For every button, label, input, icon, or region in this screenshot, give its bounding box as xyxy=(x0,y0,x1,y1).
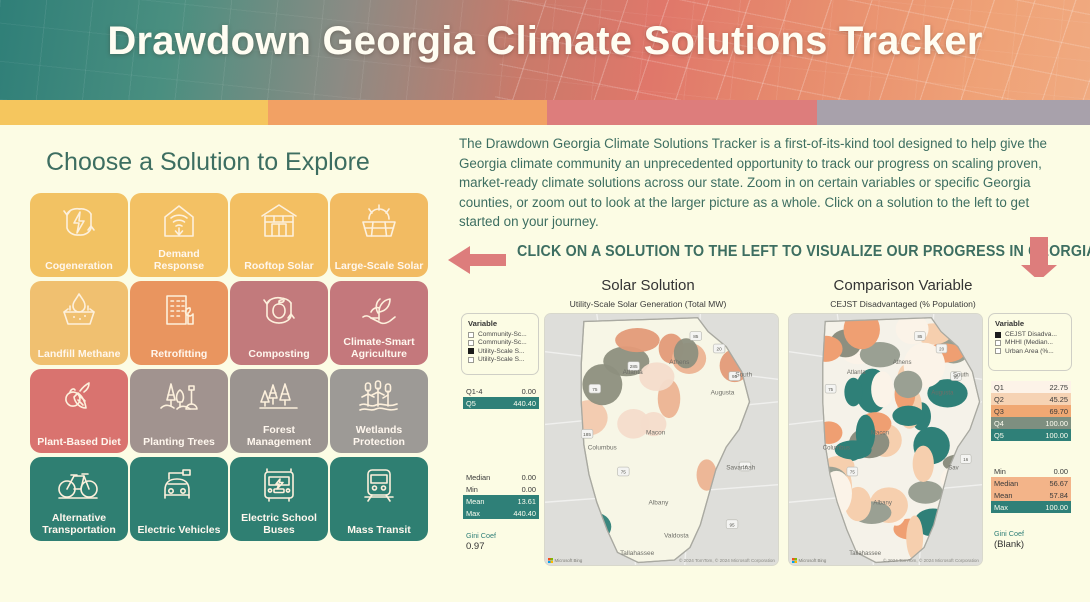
stat-row[interactable]: Median0.00 xyxy=(463,471,539,483)
stat-label: Max xyxy=(466,509,480,518)
stat-row[interactable]: Min0.00 xyxy=(463,483,539,495)
stat-row[interactable]: Q245.25 xyxy=(991,393,1071,405)
solution-label: Climate-Smart Agriculture xyxy=(332,337,426,360)
stat-row[interactable]: Q122.75 xyxy=(991,381,1071,393)
svg-text:Macon: Macon xyxy=(646,430,666,437)
strip-band-1 xyxy=(0,100,268,125)
stat-value: 0.00 xyxy=(522,473,536,482)
solution-label: Retrofitting xyxy=(132,349,226,361)
solution-label: Electric Vehicles xyxy=(132,525,226,537)
svg-text:Augusta: Augusta xyxy=(711,389,735,396)
checkbox-icon[interactable] xyxy=(468,348,474,354)
stat-value: 440.40 xyxy=(513,399,536,408)
comparison-variable-title: Comparison Variable xyxy=(788,277,1018,294)
svg-text:Athens: Athens xyxy=(893,359,912,366)
plant-diet-icon xyxy=(58,378,100,418)
solution-button-mass-transit[interactable]: Mass Transit xyxy=(330,457,428,541)
solution-button-demand-response[interactable]: Demand Response xyxy=(130,193,228,277)
svg-text:Albany: Albany xyxy=(649,500,670,507)
solution-label: Large-Scale Solar xyxy=(332,261,426,273)
solution-label: Composting xyxy=(232,349,326,361)
stat-label: Q3 xyxy=(994,407,1004,416)
tracker-dashboard[interactable]: Solar Solution Utility-Scale Solar Gener… xyxy=(458,277,1075,574)
landfill-methane-icon xyxy=(58,290,100,330)
ev-car-icon xyxy=(157,466,201,506)
svg-text:16: 16 xyxy=(963,457,968,462)
svg-text:85: 85 xyxy=(917,334,922,339)
solution-label: Landfill Methane xyxy=(32,349,126,361)
stat-value: 69.70 xyxy=(1050,407,1069,416)
checkbox-icon[interactable] xyxy=(468,340,474,346)
stat-label: Median xyxy=(466,473,490,482)
stat-value: 57.84 xyxy=(1050,491,1069,500)
solution-button-electric-school-buses[interactable]: Electric School Buses xyxy=(230,457,328,541)
bicycle-icon xyxy=(55,466,103,502)
composting-icon xyxy=(257,290,301,330)
agriculture-icon xyxy=(357,290,401,330)
stat-value: 13.61 xyxy=(518,497,537,506)
solar-variable-legend[interactable]: Variable Community-Sc...Community-Sc...U… xyxy=(461,313,539,375)
rooftop-solar-icon xyxy=(257,202,301,240)
stat-value: 0.00 xyxy=(522,387,536,396)
comparison-stats-table[interactable]: Min0.00Median56.67Mean57.84Max100.00 xyxy=(991,465,1071,513)
page-body: Choose a Solution to Explore Cogeneratio… xyxy=(0,125,1090,602)
stat-row[interactable]: Mean57.84 xyxy=(991,489,1071,501)
svg-text:20: 20 xyxy=(717,347,723,352)
legend-item-label: Community-Sc... xyxy=(478,331,527,338)
checkbox-icon[interactable] xyxy=(995,332,1001,338)
solution-button-planting-trees[interactable]: Planting Trees xyxy=(130,369,228,453)
comparison-variable-legend[interactable]: Variable CEJST Disadva...MHHI (Median...… xyxy=(988,313,1072,371)
checkbox-icon[interactable] xyxy=(468,332,474,338)
svg-text:Atlanta: Atlanta xyxy=(847,369,866,376)
solution-chooser-panel: Choose a Solution to Explore Cogeneratio… xyxy=(0,125,440,602)
stat-label: Q5 xyxy=(466,399,476,408)
call-to-action-row: CLICK ON A SOLUTION TO THE LEFT TO VISUA… xyxy=(440,237,1080,281)
train-icon xyxy=(359,466,399,506)
svg-text:Sav: Sav xyxy=(948,465,959,472)
gini-label: Gini Coef xyxy=(466,531,496,540)
solution-button-plant-based-diet[interactable]: Plant-Based Diet xyxy=(30,369,128,453)
stat-value: 100.00 xyxy=(1045,431,1068,440)
stat-label: Q5 xyxy=(994,431,1004,440)
overview-panel: The Drawdown Georgia Climate Solutions T… xyxy=(440,125,1090,602)
stat-row[interactable]: Max100.00 xyxy=(991,501,1071,513)
solution-button-large-scale-solar[interactable]: Large-Scale Solar xyxy=(330,193,428,277)
forest-icon xyxy=(256,378,302,416)
legend-item[interactable]: Utility-Scale S... xyxy=(468,356,532,363)
stat-label: Q2 xyxy=(994,395,1004,404)
legend-title: Variable xyxy=(468,319,532,328)
svg-text:Augusta: Augusta xyxy=(931,389,954,396)
solar-solution-subtitle: Utility-Scale Solar Generation (Total MW… xyxy=(498,299,798,309)
solar-solution-title: Solar Solution xyxy=(498,277,798,294)
legend-item[interactable]: Utility-Scale S... xyxy=(468,348,532,355)
svg-text:185: 185 xyxy=(583,432,591,437)
svg-text:85: 85 xyxy=(693,334,699,339)
comparison-variable-subtitle: CEJST Disadvantaged (% Population) xyxy=(788,299,1018,309)
stat-row[interactable]: Max440.40 xyxy=(463,507,539,519)
stat-value: 0.00 xyxy=(522,485,536,494)
stat-row[interactable]: Min0.00 xyxy=(991,465,1071,477)
stat-label: Q1 xyxy=(994,383,1004,392)
legend-item[interactable]: CEJST Disadva... xyxy=(995,331,1065,338)
solar-stats-table[interactable]: Median0.00Min0.00Mean13.61Max440.40 xyxy=(463,471,539,519)
svg-text:Savannah: Savannah xyxy=(726,465,756,472)
legend-item[interactable]: Urban Area (%... xyxy=(995,348,1065,355)
svg-text:75: 75 xyxy=(828,387,833,392)
solar-map[interactable]: 85209575185167528595AtlantaAthensAugusta… xyxy=(544,313,779,566)
legend-title: Variable xyxy=(995,319,1065,328)
strip-band-2 xyxy=(268,100,547,125)
solution-button-retrofitting[interactable]: Retrofitting xyxy=(130,281,228,365)
svg-text:20: 20 xyxy=(939,347,944,352)
color-strip xyxy=(0,100,1090,125)
school-bus-icon xyxy=(258,466,300,506)
legend-item-label: MHHI (Median... xyxy=(1005,339,1053,346)
solution-button-climate-smart-agriculture[interactable]: Climate-Smart Agriculture xyxy=(330,281,428,365)
svg-text:75: 75 xyxy=(592,387,598,392)
stat-row[interactable]: Mean13.61 xyxy=(463,495,539,507)
stat-label: Q1-4 xyxy=(466,387,482,396)
large-solar-icon xyxy=(357,202,401,242)
solution-button-wetlands-protection[interactable]: Wetlands Protection xyxy=(330,369,428,453)
comparison-map[interactable]: 852095751675AtlantaAthensAugustaMaconCol… xyxy=(788,313,983,566)
legend-item[interactable]: Community-Sc... xyxy=(468,339,532,346)
checkbox-icon[interactable] xyxy=(995,348,1001,354)
stat-label: Median xyxy=(994,479,1018,488)
svg-text:Valdosta: Valdosta xyxy=(664,532,689,539)
svg-text:75: 75 xyxy=(621,470,627,475)
stat-label: Q4 xyxy=(994,419,1004,428)
stat-row[interactable]: Q1-40.00 xyxy=(463,385,539,397)
stat-row[interactable]: Q5440.40 xyxy=(463,397,539,409)
solution-label: Demand Response xyxy=(132,249,226,272)
svg-text:Athens: Athens xyxy=(669,359,689,366)
legend-items: Community-Sc...Community-Sc...Utility-Sc… xyxy=(468,331,532,363)
svg-text:Atlanta: Atlanta xyxy=(623,369,644,376)
checkbox-icon[interactable] xyxy=(995,340,1001,346)
wetlands-icon xyxy=(356,378,402,416)
legend-item[interactable]: Community-Sc... xyxy=(468,331,532,338)
stat-label: Min xyxy=(994,467,1006,476)
stat-value: 0.00 xyxy=(1054,467,1068,476)
solution-label: Electric School Buses xyxy=(232,513,326,536)
stat-value: 56.67 xyxy=(1050,479,1069,488)
cta-text: CLICK ON A SOLUTION TO THE LEFT TO VISUA… xyxy=(517,243,1090,261)
solution-label: Wetlands Protection xyxy=(332,425,426,448)
legend-item-label: Utility-Scale S... xyxy=(478,356,525,363)
legend-item-label: Urban Area (%... xyxy=(1005,348,1054,355)
stat-row[interactable]: Q369.70 xyxy=(991,405,1071,417)
solution-button-electric-vehicles[interactable]: Electric Vehicles xyxy=(130,457,228,541)
solution-grid: CogenerationDemand ResponseRooftop Solar… xyxy=(30,193,428,541)
comparison-map-canvas[interactable]: 852095751675AtlantaAthensAugustaMaconCol… xyxy=(789,314,982,565)
svg-text:Columbus: Columbus xyxy=(823,444,850,451)
legend-item-label: Community-Sc... xyxy=(478,339,527,346)
checkbox-icon[interactable] xyxy=(468,357,474,363)
solution-button-composting[interactable]: Composting xyxy=(230,281,328,365)
solar-gini: Gini Coef 0.97 xyxy=(466,531,496,552)
demand-response-icon xyxy=(160,202,198,242)
planting-trees-icon xyxy=(156,378,202,418)
retrofitting-icon xyxy=(159,290,199,330)
svg-text:South: South xyxy=(953,372,969,379)
intro-paragraph: The Drawdown Georgia Climate Solutions T… xyxy=(459,134,1059,232)
solution-label: Planting Trees xyxy=(132,437,226,449)
gini-value: 0.97 xyxy=(466,541,496,552)
svg-text:South: South xyxy=(735,372,752,379)
legend-item[interactable]: MHHI (Median... xyxy=(995,339,1065,346)
cogeneration-icon xyxy=(58,202,100,242)
stat-label: Mean xyxy=(994,491,1013,500)
stat-value: 100.00 xyxy=(1045,419,1068,428)
solution-label: Rooftop Solar xyxy=(232,261,326,273)
page-title: Drawdown Georgia Climate Solutions Track… xyxy=(0,19,1090,64)
svg-text:75: 75 xyxy=(850,470,855,475)
stat-label: Max xyxy=(994,503,1008,512)
page-header: Drawdown Georgia Climate Solutions Track… xyxy=(0,0,1090,100)
comparison-gini: Gini Coef (Blank) xyxy=(994,529,1024,550)
svg-text:Macon: Macon xyxy=(871,429,890,436)
stat-value: 100.00 xyxy=(1045,503,1068,512)
choose-solution-heading: Choose a Solution to Explore xyxy=(46,148,370,177)
svg-text:95: 95 xyxy=(729,522,735,527)
comparison-quintile-table[interactable]: Q122.75Q245.25Q369.70Q4100.00Q5100.00 xyxy=(991,381,1071,441)
legend-items: CEJST Disadva...MHHI (Median...Urban Are… xyxy=(995,331,1065,355)
solution-label: Forest Management xyxy=(232,425,326,448)
solution-button-landfill-methane[interactable]: Landfill Methane xyxy=(30,281,128,365)
stat-value: 22.75 xyxy=(1050,383,1069,392)
solution-label: Cogeneration xyxy=(32,261,126,273)
stat-label: Min xyxy=(466,485,478,494)
stat-label: Mean xyxy=(466,497,485,506)
solution-button-alternative-transportation[interactable]: Alternative Transportation xyxy=(30,457,128,541)
svg-text:Albany: Albany xyxy=(873,500,892,507)
solution-label: Alternative Transportation xyxy=(32,513,126,536)
solar-map-canvas[interactable]: 85209575185167528595AtlantaAthensAugusta… xyxy=(545,314,778,565)
solution-button-rooftop-solar[interactable]: Rooftop Solar xyxy=(230,193,328,277)
gini-value: (Blank) xyxy=(994,539,1024,550)
strip-band-4 xyxy=(817,100,1090,125)
svg-text:Tallahassee: Tallahassee xyxy=(620,550,655,557)
stat-row[interactable]: Median56.67 xyxy=(991,477,1071,489)
solar-quintile-table[interactable]: Q1-40.00Q5440.40 xyxy=(463,385,539,409)
gini-label: Gini Coef xyxy=(994,529,1024,538)
svg-text:Tallahassee: Tallahassee xyxy=(849,550,881,557)
strip-band-3 xyxy=(547,100,817,125)
stat-value: 440.40 xyxy=(513,509,536,518)
solution-button-forest-management[interactable]: Forest Management xyxy=(230,369,328,453)
solution-label: Mass Transit xyxy=(332,525,426,537)
stat-row[interactable]: Q4100.00 xyxy=(991,417,1071,429)
stat-row[interactable]: Q5100.00 xyxy=(991,429,1071,441)
solution-button-cogeneration[interactable]: Cogeneration xyxy=(30,193,128,277)
legend-item-label: CEJST Disadva... xyxy=(1005,331,1057,338)
stat-value: 45.25 xyxy=(1050,395,1069,404)
svg-text:Columbus: Columbus xyxy=(588,445,617,452)
legend-item-label: Utility-Scale S... xyxy=(478,348,525,355)
solution-label: Plant-Based Diet xyxy=(32,437,126,449)
